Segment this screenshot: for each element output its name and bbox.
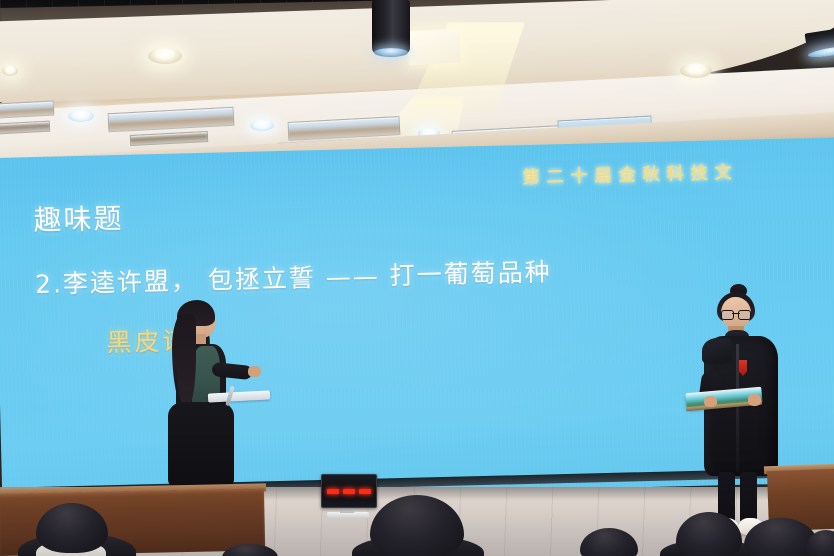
timer-segment	[327, 489, 339, 494]
timer-segment	[359, 489, 371, 494]
cylinder-pendant-light-icon	[372, 0, 410, 54]
spotlight-icon	[148, 48, 182, 64]
timer-segment	[343, 489, 355, 494]
slide-title: 趣味题	[33, 197, 124, 239]
projector-housing	[407, 29, 461, 66]
hand	[748, 394, 761, 406]
spotlight-icon	[680, 63, 712, 78]
ceiling-vent-panel	[0, 100, 54, 118]
countdown-timer-display[interactable]	[321, 474, 377, 508]
downlight-icon	[68, 110, 94, 122]
answer-board	[208, 390, 270, 402]
black-skirt	[168, 402, 234, 488]
hand	[704, 396, 717, 407]
lecture-hall-photo: 第二十届金秋科技文 趣味题 2.李逵许盟， 包拯立誓 —— 打一葡萄品种 黑皮诺	[0, 0, 834, 556]
hand	[248, 366, 261, 377]
coat-shoulder	[702, 338, 732, 364]
coat-fold	[736, 344, 739, 472]
hair-front	[176, 314, 196, 406]
spotlight-icon	[2, 66, 18, 76]
slide-header-banner: 第二十届金秋科技文	[522, 158, 739, 188]
leg	[740, 472, 757, 524]
glasses-icon	[721, 310, 751, 318]
downlight-icon	[250, 120, 274, 131]
slide-question-line: 2.李逵许盟， 包拯立誓 —— 打一葡萄品种	[35, 252, 552, 301]
timer-base	[327, 512, 369, 519]
